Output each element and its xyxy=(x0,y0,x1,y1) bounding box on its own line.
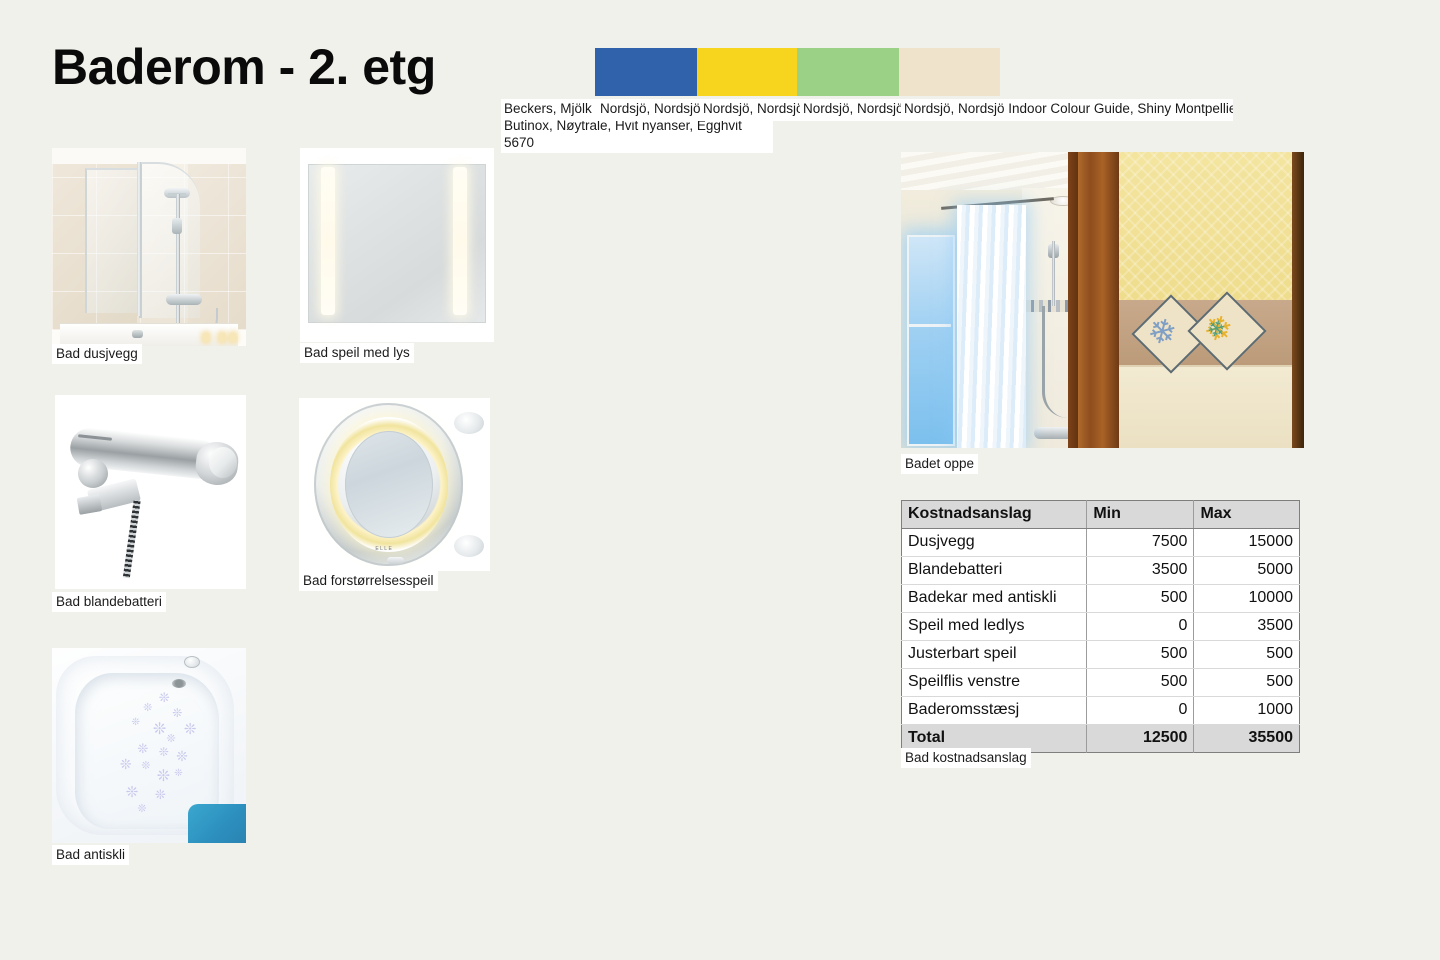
bathtub-antislip-illustration: ❊ ❊ ❊ ❊ ❊ ❊ ❊ ❊ ❊ ❊ ❊ ❊ ❊ ❊ ❊ ❊ ❊ xyxy=(52,648,246,843)
table-header-max: Max xyxy=(1194,501,1300,529)
colour-swatch-strip xyxy=(595,48,1000,96)
cell-item: Blandebatteri xyxy=(902,557,1087,585)
swatch-blue xyxy=(595,48,697,96)
cell-item: Dusjvegg xyxy=(902,529,1087,557)
cell-item: Speil med ledlys xyxy=(902,613,1087,641)
cell-total-max: 35500 xyxy=(1194,725,1300,753)
caption-bad-blandebatteri: Bad blandebatteri xyxy=(52,592,166,612)
swatch-cream xyxy=(899,48,1000,96)
table-row: Badekar med antiskli 500 10000 xyxy=(902,585,1300,613)
cell-max: 1000 xyxy=(1194,697,1300,725)
cell-min: 3500 xyxy=(1087,557,1194,585)
cell-item: Justerbart speil xyxy=(902,641,1087,669)
table-row: Justerbart speil 500 500 xyxy=(902,641,1300,669)
cell-min: 7500 xyxy=(1087,529,1194,557)
caption-bad-forstorrelsesspeil: Bad forstørrelsesspeil xyxy=(299,571,438,591)
colour-label-green: Nordsjö, Nordsjö xyxy=(800,99,905,121)
cost-estimate-table: Kostnadsanslag Min Max Dusjvegg 7500 150… xyxy=(901,500,1300,753)
colour-label-blue: Nordsjö, Nordsjö xyxy=(597,99,704,121)
swatch-yellow xyxy=(697,48,797,96)
cell-max: 10000 xyxy=(1194,585,1300,613)
table-header-item: Kostnadsanslag xyxy=(902,501,1087,529)
colour-label-beckers-line1: Beckers, Mjölk xyxy=(504,101,592,116)
caption-bad-kostnadsanslag: Bad kostnadsanslag xyxy=(901,748,1031,768)
bathroom-photo-illustration: ❄ ❄ ❄ xyxy=(901,152,1304,448)
cell-min: 0 xyxy=(1087,697,1194,725)
cell-item: Speilflis venstre xyxy=(902,669,1087,697)
colour-label-beckers-line2: Butinox, Nøytrale, Hvit nyanser, Egghvit… xyxy=(504,118,742,150)
mixer-tap-illustration xyxy=(55,395,246,589)
table-header-min: Min xyxy=(1087,501,1194,529)
cell-min: 0 xyxy=(1087,613,1194,641)
caption-bad-speil-med-lys: Bad speil med lys xyxy=(300,343,414,363)
cell-total-min: 12500 xyxy=(1087,725,1194,753)
colour-label-cream: Nordsjö, Nordsjö Indoor Colour Guide, Sh… xyxy=(901,99,1233,121)
image-bad-blandebatteri[interactable] xyxy=(55,395,246,589)
cell-max: 500 xyxy=(1194,641,1300,669)
led-mirror-illustration xyxy=(300,148,494,342)
swatch-green xyxy=(797,48,899,96)
table-row: Baderomsstæsj 0 1000 xyxy=(902,697,1300,725)
cell-max: 500 xyxy=(1194,669,1300,697)
caption-bad-dusjvegg: Bad dusjvegg xyxy=(52,344,142,364)
table-row: Speil med ledlys 0 3500 xyxy=(902,613,1300,641)
page-title: Baderom - 2. etg xyxy=(52,38,436,96)
cell-item: Badekar med antiskli xyxy=(902,585,1087,613)
table-row: Speilflis venstre 500 500 xyxy=(902,669,1300,697)
cell-min: 500 xyxy=(1087,641,1194,669)
magnifying-mirror-illustration: ELLE xyxy=(299,398,490,571)
image-bad-antiskli[interactable]: ❊ ❊ ❊ ❊ ❊ ❊ ❊ ❊ ❊ ❊ ❊ ❊ ❊ ❊ ❊ ❊ ❊ xyxy=(52,648,246,843)
cell-max: 5000 xyxy=(1194,557,1300,585)
shower-screen-illustration xyxy=(52,148,246,346)
colour-label-beckers-line3: Butinox, Farger, Stue, 5670 xyxy=(504,152,668,153)
caption-bad-antiskli: Bad antiskli xyxy=(52,845,129,865)
image-bad-dusjvegg[interactable] xyxy=(52,148,246,346)
cell-min: 500 xyxy=(1087,585,1194,613)
cell-max: 15000 xyxy=(1194,529,1300,557)
colour-label-yellow: Nordsjö, Nordsjö xyxy=(700,99,805,121)
caption-badet-oppe: Badet oppe xyxy=(901,454,978,474)
table-row: Blandebatteri 3500 5000 xyxy=(902,557,1300,585)
image-bad-speil-med-lys[interactable] xyxy=(300,148,494,342)
slide-canvas: Baderom - 2. etg Beckers, Mjölk Butinox,… xyxy=(0,0,1440,960)
cell-max: 3500 xyxy=(1194,613,1300,641)
cell-item: Baderomsstæsj xyxy=(902,697,1087,725)
table-header-row: Kostnadsanslag Min Max xyxy=(902,501,1300,529)
table-row: Dusjvegg 7500 15000 xyxy=(902,529,1300,557)
image-badet-oppe[interactable]: ❄ ❄ ❄ xyxy=(901,152,1304,448)
cell-min: 500 xyxy=(1087,669,1194,697)
image-bad-forstorrelsesspeil[interactable]: ELLE xyxy=(299,398,490,571)
